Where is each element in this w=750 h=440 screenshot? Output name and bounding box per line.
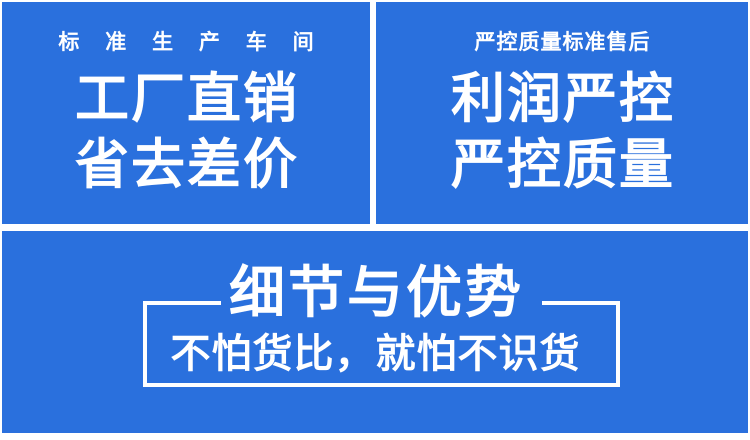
panel-left-headline-line2: 省去差价 bbox=[2, 138, 370, 192]
panel-quality-control: 严控质量标准售后 利润严控 严控质量 bbox=[376, 2, 748, 224]
panel-right-headline-line2: 严控质量 bbox=[376, 138, 748, 192]
bottom-panel-subtitle: 不怕货比，就怕不识货 bbox=[2, 334, 748, 374]
panel-factory-direct: 标 准 生 产 车 间 工厂直销 省去差价 bbox=[2, 2, 370, 224]
panel-right-eyebrow: 严控质量标准售后 bbox=[376, 32, 748, 53]
panel-left-headline-line1: 工厂直销 bbox=[2, 72, 370, 126]
bottom-panel-title: 细节与优势 bbox=[2, 265, 748, 321]
promo-banner: 标 准 生 产 车 间 工厂直销 省去差价 严控质量标准售后 利润严控 严控质量… bbox=[0, 0, 750, 440]
panel-left-eyebrow: 标 准 生 产 车 间 bbox=[2, 32, 370, 53]
panel-details-advantages: 细节与优势 不怕货比，就怕不识货 bbox=[2, 231, 748, 433]
panel-right-headline-line1: 利润严控 bbox=[376, 72, 748, 126]
